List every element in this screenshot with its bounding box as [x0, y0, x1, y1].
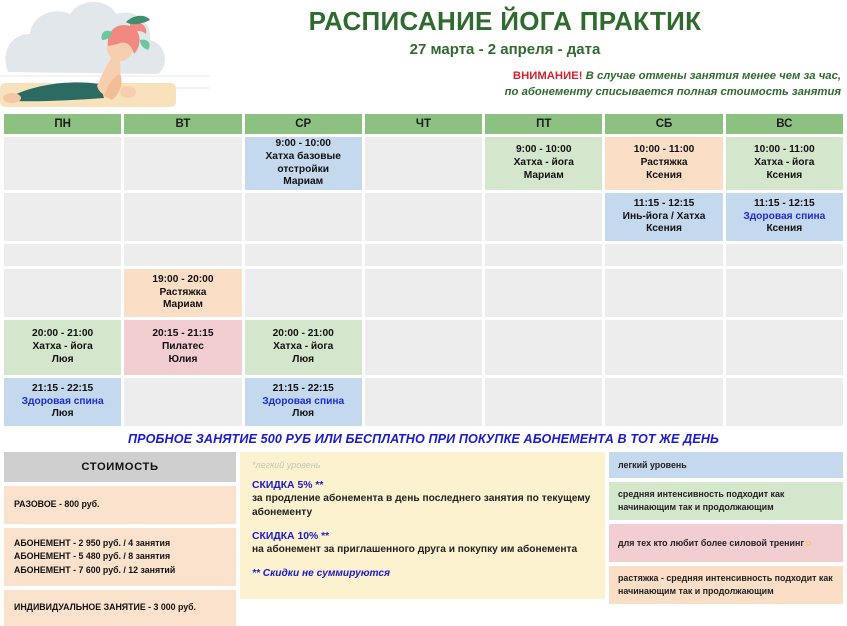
- class-teacher: Люя: [52, 354, 74, 367]
- empty-cell: [485, 193, 602, 241]
- class-teacher: Мариам: [163, 299, 203, 312]
- discount-note: *легкий уровень: [252, 460, 593, 470]
- empty-cell: [726, 244, 843, 266]
- class-cell[interactable]: 10:00 - 11:00РастяжкаКсения: [605, 137, 722, 190]
- empty-cell: [365, 193, 482, 241]
- empty-cell: [485, 269, 602, 317]
- title-block: РАСПИСАНИЕ ЙОГА ПРАКТИК 27 марта - 2 апр…: [205, 6, 805, 58]
- class-name: Растяжка: [641, 157, 688, 170]
- class-cell[interactable]: 20:15 - 21:15ПилатесЮлия: [124, 320, 241, 375]
- empty-cell: [605, 378, 722, 426]
- empty-cell: [485, 244, 602, 266]
- class-name: Хатха - йога: [273, 341, 333, 354]
- price-individual-text: ИНДИВИДУАЛЬНОЕ ЗАНЯТИЕ - 3 000 руб.: [14, 601, 196, 615]
- empty-cell: [365, 269, 482, 317]
- empty-cell: [605, 269, 722, 317]
- legend-row: растяжка - средняя интенсивность подходи…: [609, 566, 843, 604]
- class-cell[interactable]: 20:00 - 21:00Хатха - йогаЛюя: [245, 320, 362, 375]
- empty-cell: [124, 244, 241, 266]
- pricing-header: СТОИМОСТЬ: [4, 452, 236, 482]
- price-single-text: РАЗОВОЕ - 800 руб.: [14, 498, 100, 512]
- class-teacher: Люя: [292, 354, 314, 367]
- class-time: 10:00 - 11:00: [634, 144, 695, 157]
- class-name: Здоровая спина: [262, 396, 344, 409]
- day-header-sun: ВС: [726, 114, 843, 134]
- class-time: 20:00 - 21:00: [32, 328, 93, 341]
- warning-line-2: по абонементу списывается полная стоимос…: [505, 86, 841, 98]
- class-time: 10:00 - 11:00: [754, 144, 815, 157]
- day-header-fri: ПТ: [485, 114, 602, 134]
- class-name: Хатха - йога: [33, 341, 93, 354]
- class-time: 11:15 - 12:15: [634, 198, 695, 211]
- schedule-row: 21:15 - 22:15Здоровая спинаЛюя21:15 - 22…: [4, 378, 843, 426]
- schedule-header-row: ПН ВТ СР ЧТ ПТ СБ ВС: [4, 114, 843, 134]
- class-cell[interactable]: 11:15 - 12:15Инь-йога / ХатхаКсения: [605, 193, 722, 241]
- class-time: 9:00 - 10:00: [516, 144, 572, 157]
- day-header-thu: ЧТ: [365, 114, 482, 134]
- schedule-row: 19:00 - 20:00РастяжкаМариам: [4, 269, 843, 317]
- empty-cell: [365, 137, 482, 190]
- page-header: РАСПИСАНИЕ ЙОГА ПРАКТИК 27 марта - 2 апр…: [0, 0, 847, 113]
- schedule-table: ПН ВТ СР ЧТ ПТ СБ ВС 9:00 - 10:00Хатха б…: [4, 114, 843, 429]
- price-passes: АБОНЕМЕНТ - 2 950 руб. / 4 занятия АБОНЕ…: [4, 528, 236, 586]
- empty-cell: [124, 193, 241, 241]
- class-name: Пилатес: [162, 341, 204, 354]
- schedule-row: 11:15 - 12:15Инь-йога / ХатхаКсения11:15…: [4, 193, 843, 241]
- class-name: Хатха базовые: [266, 151, 341, 164]
- discount-10-text: на абонемент за приглашенного друга и по…: [252, 543, 593, 557]
- price-single: РАЗОВОЕ - 800 руб.: [4, 486, 236, 524]
- day-header-sat: СБ: [605, 114, 722, 134]
- class-time: 19:00 - 20:00: [152, 274, 213, 287]
- empty-cell: [245, 244, 362, 266]
- empty-cell: [365, 244, 482, 266]
- empty-cell: [605, 320, 722, 375]
- class-teacher: Ксения: [646, 170, 682, 183]
- class-cell[interactable]: 19:00 - 20:00РастяжкаМариам: [124, 269, 241, 317]
- price-pass-8: АБОНЕМЕНТ - 5 480 руб. / 8 занятия: [14, 550, 226, 564]
- class-teacher: Юлия: [168, 354, 197, 367]
- class-name: Инь-йога / Хатха: [623, 211, 706, 224]
- empty-cell: [4, 193, 121, 241]
- day-header-tue: ВТ: [124, 114, 241, 134]
- empty-cell: [4, 269, 121, 317]
- class-time: 9:00 - 10:00: [275, 138, 331, 151]
- price-pass-4: АБОНЕМЕНТ - 2 950 руб. / 4 занятия: [14, 537, 226, 551]
- empty-cell: [365, 378, 482, 426]
- class-cell[interactable]: 10:00 - 11:00Хатха - йогаКсения: [726, 137, 843, 190]
- class-cell[interactable]: 9:00 - 10:00Хатха базовыеотстройкиМариам: [245, 137, 362, 190]
- class-cell[interactable]: 20:00 - 21:00Хатха - йогаЛюя: [4, 320, 121, 375]
- day-header-mon: ПН: [4, 114, 121, 134]
- empty-cell: [605, 244, 722, 266]
- class-cell[interactable]: 11:15 - 12:15Здоровая спинаКсения: [726, 193, 843, 241]
- empty-cell: [245, 269, 362, 317]
- cancellation-warning: ВНИМАНИЕ! В случае отмены занятия менее …: [391, 69, 841, 100]
- empty-cell: [4, 244, 121, 266]
- date-range: 27 марта - 2 апреля - дата: [205, 41, 805, 58]
- empty-cell: [726, 269, 843, 317]
- discount-5-title: СКИДКА 5% **: [252, 480, 593, 491]
- warning-label: ВНИМАНИЕ!: [513, 70, 583, 82]
- legend-text: легкий уровень: [618, 459, 687, 472]
- class-time: 21:15 - 22:15: [273, 383, 334, 396]
- promo-banner: ПРОБНОЕ ЗАНЯТИЕ 500 РУБ ИЛИ БЕСПЛАТНО ПР…: [0, 432, 847, 446]
- discount-10-title: СКИДКА 10% **: [252, 531, 593, 542]
- class-name: Хатха - йога: [754, 157, 814, 170]
- class-time: 20:00 - 21:00: [273, 328, 334, 341]
- class-time: 21:15 - 22:15: [32, 383, 93, 396]
- class-cell[interactable]: 21:15 - 22:15Здоровая спинаЛюя: [4, 378, 121, 426]
- class-teacher: Люя: [292, 408, 314, 421]
- class-teacher: Ксения: [766, 223, 802, 236]
- discount-footnote: ** Скидки не суммируются: [252, 568, 593, 579]
- empty-cell: [124, 378, 241, 426]
- legend-text: средняя интенсивность подходит как начин…: [618, 488, 834, 514]
- class-name: Растяжка: [159, 287, 206, 300]
- class-teacher: Ксения: [766, 170, 802, 183]
- class-name: Здоровая спина: [743, 211, 825, 224]
- empty-cell: [726, 320, 843, 375]
- page-title: РАСПИСАНИЕ ЙОГА ПРАКТИК: [205, 6, 805, 36]
- day-header-wed: СР: [245, 114, 362, 134]
- schedule-body: 9:00 - 10:00Хатха базовыеотстройкиМариам…: [4, 137, 843, 426]
- empty-cell: [124, 137, 241, 190]
- warning-line-1: В случае отмены занятия менее чем за час…: [583, 70, 841, 82]
- class-teacher: Мариам: [283, 176, 323, 189]
- class-time: 11:15 - 12:15: [754, 198, 815, 211]
- legend-row: для тех кто любит более силовой тренинг …: [609, 524, 843, 562]
- empty-cell: [365, 320, 482, 375]
- legend-text: для тех кто любит более силовой тренинг: [618, 537, 804, 550]
- class-teacher: Ксения: [646, 223, 682, 236]
- empty-cell: [4, 137, 121, 190]
- discounts-box: *легкий уровень СКИДКА 5% ** за продлени…: [240, 452, 605, 599]
- smiley-icon: ☺: [804, 537, 813, 550]
- empty-cell: [245, 193, 362, 241]
- class-cell[interactable]: 21:15 - 22:15Здоровая спинаЛюя: [245, 378, 362, 426]
- price-pass-12: АБОНЕМЕНТ - 7 600 руб. / 12 занятий: [14, 564, 226, 578]
- empty-cell: [726, 378, 843, 426]
- class-teacher: Мариам: [524, 170, 564, 183]
- legend-row: средняя интенсивность подходит как начин…: [609, 482, 843, 520]
- empty-cell: [485, 320, 602, 375]
- class-cell[interactable]: 9:00 - 10:00Хатха - йогаМариам: [485, 137, 602, 190]
- class-teacher: Люя: [52, 408, 74, 421]
- class-name: Хатха - йога: [514, 157, 574, 170]
- class-name: Здоровая спина: [22, 396, 104, 409]
- schedule-row: 20:00 - 21:00Хатха - йогаЛюя20:15 - 21:1…: [4, 320, 843, 375]
- schedule-row: 9:00 - 10:00Хатха базовыеотстройкиМариам…: [4, 137, 843, 190]
- schedule-row: [4, 244, 843, 266]
- discount-5-text: за продление абонемента в день последнег…: [252, 492, 593, 520]
- yoga-pose-illustration: [0, 0, 210, 113]
- empty-cell: [485, 378, 602, 426]
- legend-text: растяжка - средняя интенсивность подходи…: [618, 572, 834, 598]
- class-name-cont: отстройки: [277, 164, 329, 177]
- class-time: 20:15 - 21:15: [152, 328, 213, 341]
- legend-row: легкий уровень: [609, 452, 843, 478]
- price-individual: ИНДИВИДУАЛЬНОЕ ЗАНЯТИЕ - 3 000 руб.: [4, 590, 236, 626]
